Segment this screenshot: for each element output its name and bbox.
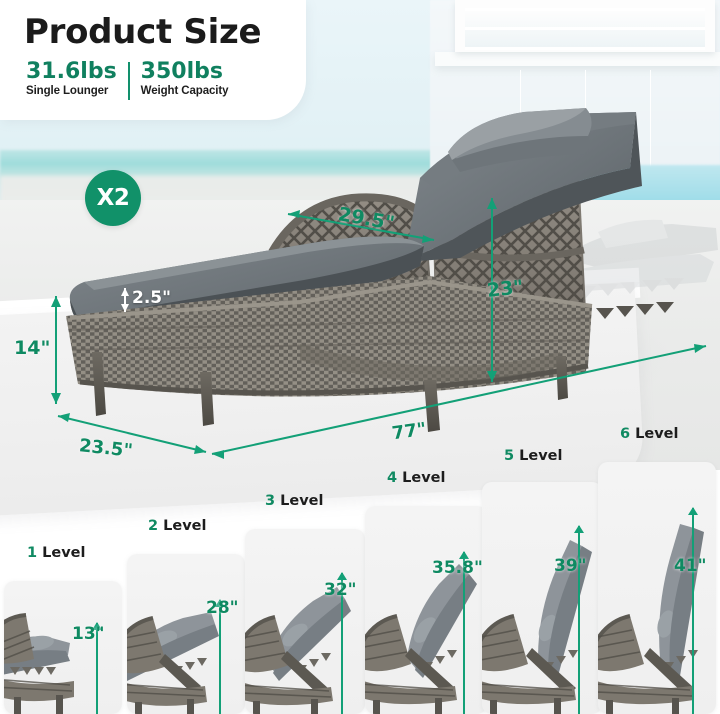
stat-caption: Single Lounger [26,85,117,97]
level-card-2 [127,554,245,714]
stat-value: 350lbs [141,60,229,83]
level-value-3: 32" [324,580,357,600]
level-value-6: 41" [674,556,707,576]
page-title: Product Size [24,12,261,52]
stat-caption: Weight Capacity [141,85,229,97]
level-label-5: 5 Level [504,448,563,464]
level-word: Level [280,493,323,509]
stats-row: 31.6lbs Single Lounger 350lbs Weight Cap… [26,60,228,100]
stat-weight-capacity: 350lbs Weight Capacity [141,60,229,97]
recline-levels-strip: 1 Level 13" [0,440,720,714]
level-number: 1 [27,545,37,561]
level-label-6: 6 Level [620,426,679,442]
level-card-3 [245,529,365,714]
level-label-4: 4 Level [387,470,446,486]
lounger-level-4 [365,564,477,714]
level-number: 4 [387,470,397,486]
level-word: Level [519,448,562,464]
level-card-4 [365,506,487,714]
level-value-1: 13" [72,624,105,644]
level-word: Level [163,518,206,534]
stats-divider [128,62,130,100]
level-word: Level [635,426,678,442]
lounger-level-2 [127,612,219,714]
level-label-1: 1 Level [27,545,86,561]
level-card-1 [4,581,122,714]
stat-single-lounger: 31.6lbs Single Lounger [26,60,117,97]
level-number: 5 [504,448,514,464]
lounger-level-1 [4,615,74,714]
level-number: 2 [148,518,158,534]
level-word: Level [42,545,85,561]
level-label-3: 3 Level [265,493,324,509]
level-number: 3 [265,493,275,509]
header-card: Product Size 31.6lbs Single Lounger 350l… [0,0,306,120]
level-number: 6 [620,426,630,442]
level-arrow-5 [578,526,580,714]
dimension-label-seat-height: 14" [14,337,50,359]
level-value-4: 35.8" [432,558,483,578]
level-card-5 [482,482,602,714]
level-value-5: 39" [554,556,587,576]
level-label-2: 2 Level [148,518,207,534]
product-size-infographic: 29.5" 2.5" 14" 23" 23.5" 77" X2 Product … [0,0,720,714]
lounger-level-6 [598,524,704,714]
lounger-level-3 [245,587,351,714]
level-card-6 [598,462,716,714]
level-word: Level [402,470,445,486]
stat-value: 31.6lbs [26,60,117,83]
ratchet-teeth [596,302,674,319]
level-arrow-6 [692,508,694,714]
quantity-badge: X2 [85,170,141,226]
dimension-label-cushion-thickness: 2.5" [132,288,171,308]
level-value-2: 28" [206,598,239,618]
dimension-label-backrest-height: 23" [486,276,524,302]
